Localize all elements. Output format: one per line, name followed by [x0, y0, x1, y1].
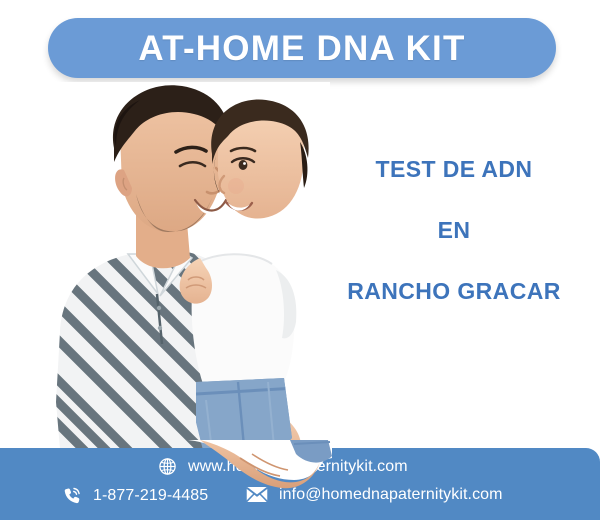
father-and-child-photo	[0, 82, 330, 472]
phone-icon	[62, 486, 82, 506]
footer-email-label: info@homednapaternitykit.com	[279, 487, 503, 503]
footer-contact-bar: www.homednapaternitykit.com 1-877-219-44…	[0, 448, 600, 520]
banner-title: AT-HOME DNA KIT	[138, 31, 465, 66]
globe-icon	[158, 457, 177, 476]
footer-website-label: www.homednapaternitykit.com	[188, 459, 408, 475]
footer-website[interactable]: www.homednapaternitykit.com	[158, 457, 408, 476]
footer-email[interactable]: info@homednapaternitykit.com	[246, 486, 503, 503]
header-banner: AT-HOME DNA KIT	[48, 18, 556, 78]
footer-phone[interactable]: 1-877-219-4485	[62, 486, 208, 506]
envelope-icon	[246, 486, 268, 503]
headline-block: TEST DE ADN EN RANCHO GRACAR	[318, 158, 590, 303]
headline-line-1: TEST DE ADN	[318, 158, 590, 181]
headline-line-3: RANCHO GRACAR	[318, 280, 590, 303]
poster-canvas: AT-HOME DNA KIT	[0, 0, 600, 520]
headline-line-2: EN	[318, 219, 590, 242]
footer-phone-label: 1-877-219-4485	[93, 488, 208, 504]
